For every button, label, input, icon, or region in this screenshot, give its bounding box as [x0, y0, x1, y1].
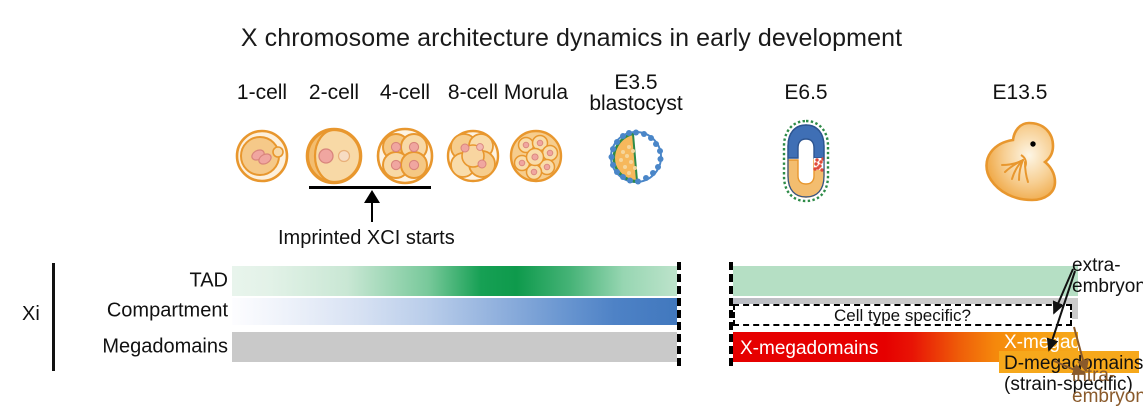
stage-label-e13-5: E13.5	[993, 82, 1048, 103]
intra-embryonic-line1: intra-	[1072, 365, 1115, 386]
x-megadomains-label-left: X-megadomains	[740, 338, 878, 360]
dashed-divider-left	[677, 262, 681, 366]
stage-label-text: 8-cell	[448, 81, 498, 104]
xi-bracket-label: Xi	[22, 303, 40, 326]
stage-label-morula: Morula	[504, 82, 568, 103]
stage-label-e3-5-blastocyst: E3.5 blastocyst	[589, 72, 682, 114]
intra-embryonic-line2: embryonic	[1072, 386, 1143, 407]
stage-label-text: 1-cell	[237, 81, 287, 104]
megadomains-bar-preimplantation	[232, 332, 677, 362]
xi-bracket-rule	[52, 263, 55, 371]
compartment-bar-preimplantation	[232, 298, 677, 325]
intra-embryonic-label: intra- embryonic	[1072, 365, 1143, 407]
stage-label-text-line2: blastocyst	[589, 93, 682, 114]
track-label-compartment: Compartment	[107, 300, 228, 323]
imprinted-xci-bracket	[309, 186, 431, 189]
stage-label-1-cell: 1-cell	[237, 82, 287, 103]
page-title: X chromosome architecture dynamics in ea…	[0, 24, 1143, 53]
stage-label-text: E3.5	[614, 71, 657, 94]
track-label-tad: TAD	[189, 270, 228, 293]
zygote-icon	[234, 128, 290, 184]
extra-embryonic-line1: extra-	[1072, 255, 1121, 276]
figure-root: X chromosome architecture dynamics in ea…	[0, 0, 1143, 411]
stage-label-text: Morula	[504, 81, 568, 104]
stage-label-text: 4-cell	[380, 81, 430, 104]
eight-cell-embryo-icon	[445, 128, 501, 184]
tad-bar-preimplantation	[232, 266, 677, 296]
egg-cylinder-icon	[778, 118, 834, 204]
fetus-icon	[981, 120, 1059, 202]
blastocyst-icon	[607, 128, 665, 186]
stage-label-4-cell: 4-cell	[380, 82, 430, 103]
morula-icon	[508, 128, 564, 184]
two-cell-embryo-icon	[304, 126, 364, 186]
imprinted-xci-caption: Imprinted XCI starts	[278, 227, 455, 250]
extra-embryonic-label: extra- embryonic	[1072, 255, 1143, 297]
stage-label-text: E6.5	[784, 81, 827, 104]
stage-label-text: 2-cell	[309, 81, 359, 104]
imprinted-xci-arrow-head	[364, 190, 380, 203]
cell-type-specific-label: Cell type specific?	[733, 305, 1072, 327]
stage-label-e6-5: E6.5	[784, 82, 827, 103]
track-label-megadomains: Megadomains	[102, 336, 228, 359]
four-cell-embryo-icon	[375, 126, 435, 186]
tad-bar-postimplantation	[733, 266, 1078, 296]
stage-label-2-cell: 2-cell	[309, 82, 359, 103]
stage-label-8-cell: 8-cell	[448, 82, 498, 103]
stage-label-text: E13.5	[993, 81, 1048, 104]
extra-embryonic-line2: embryonic	[1072, 276, 1143, 297]
